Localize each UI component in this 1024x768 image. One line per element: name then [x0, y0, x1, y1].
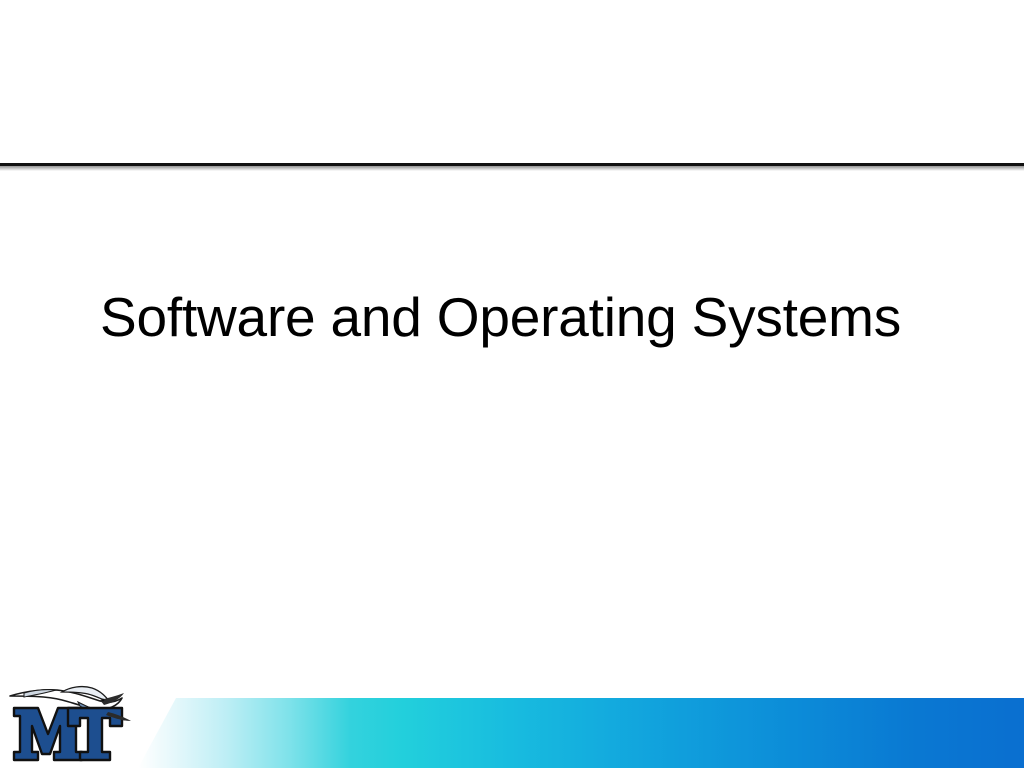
slide-canvas: Software and Operating Systems	[0, 0, 1024, 768]
horizontal-rule	[0, 163, 1024, 173]
mtsu-logo	[4, 682, 134, 766]
gradient-band-shape	[0, 698, 1024, 768]
slide-title: Software and Operating Systems	[100, 288, 960, 347]
gradient-band	[0, 698, 1024, 768]
mtsu-logo-graphic	[4, 682, 134, 766]
horizontal-rule-shadow	[0, 166, 1024, 171]
